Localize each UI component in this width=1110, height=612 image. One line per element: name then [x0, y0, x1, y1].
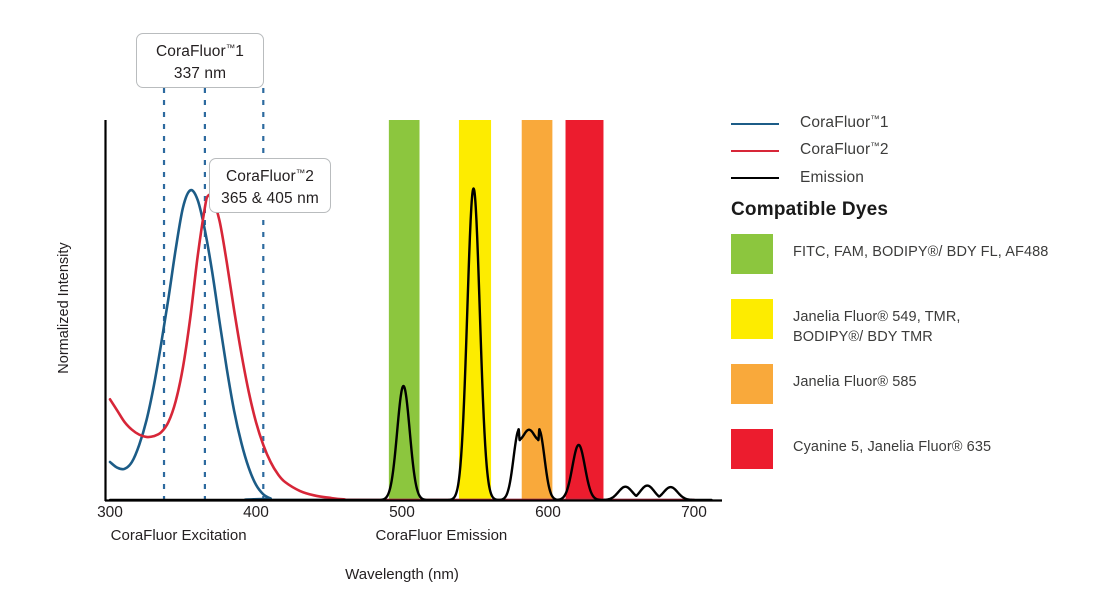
excitation-region-label: CoraFluor Excitation	[49, 527, 309, 544]
dye-row[interactable]: Cyanine 5, Janelia Fluor® 635	[731, 429, 1081, 479]
legend-item-3[interactable]: Emission	[731, 164, 1061, 191]
red-band	[566, 120, 604, 500]
legend-item-2[interactable]: CoraFluor™2	[731, 137, 1061, 164]
dye-color-swatch	[731, 299, 773, 339]
dye-color-swatch	[731, 234, 773, 274]
legend-line-swatch	[731, 177, 779, 179]
callout-corafluor2: CoraFluor™2 365 & 405 nm	[209, 158, 331, 213]
orange-band	[522, 120, 553, 500]
callout-corafluor1: CoraFluor™1 337 nm	[136, 33, 264, 88]
excitation-marker-lines	[164, 88, 263, 500]
callout-2-suffix: 2	[305, 168, 314, 185]
trademark-icon: ™	[870, 141, 880, 152]
series-legend: CoraFluor™1CoraFluor™2Emission	[731, 110, 1061, 191]
callout-2-value: 365 & 405 nm	[221, 190, 319, 207]
legend-line-swatch	[731, 150, 779, 152]
legend-item-label: Emission	[800, 169, 864, 187]
dye-row[interactable]: Janelia Fluor® 549, TMR, BODIPY®/ BDY TM…	[731, 299, 1081, 349]
compatible-dyes-heading: Compatible Dyes	[731, 199, 888, 221]
callout-1-label: CoraFluor	[156, 43, 226, 60]
legend-label-text: CoraFluor	[800, 142, 870, 159]
compatible-dyes-list: FITC, FAM, BODIPY®/ BDY FL, AF488Janelia…	[731, 234, 1081, 494]
legend-item-label: CoraFluor™1	[800, 114, 889, 132]
legend-label-text: CoraFluor	[800, 115, 870, 132]
dye-color-swatch	[731, 429, 773, 469]
dye-label: FITC, FAM, BODIPY®/ BDY FL, AF488	[793, 234, 1048, 263]
x-axis-title: Wavelength (nm)	[272, 566, 532, 583]
dye-row[interactable]: Janelia Fluor® 585	[731, 364, 1081, 414]
legend-line-swatch	[731, 123, 779, 125]
green-band	[389, 120, 420, 500]
emission-filter-bands	[389, 120, 604, 500]
x-tick-600: 600	[518, 504, 578, 522]
legend-label-suffix: 1	[880, 115, 889, 132]
legend-item-label: CoraFluor™2	[800, 141, 889, 159]
legend-label-suffix: 2	[880, 142, 889, 159]
trademark-icon: ™	[296, 168, 306, 179]
dye-label: Cyanine 5, Janelia Fluor® 635	[793, 429, 991, 458]
dye-label: Janelia Fluor® 585	[793, 364, 917, 393]
callout-1-value: 337 nm	[174, 65, 226, 82]
dye-row[interactable]: FITC, FAM, BODIPY®/ BDY FL, AF488	[731, 234, 1081, 284]
dye-label: Janelia Fluor® 549, TMR, BODIPY®/ BDY TM…	[793, 299, 961, 347]
x-tick-500: 500	[372, 504, 432, 522]
dye-color-swatch	[731, 364, 773, 404]
x-tick-700: 700	[664, 504, 724, 522]
spectra-figure: CoraFluor™1 337 nm CoraFluor™2 365 & 405…	[0, 0, 1110, 612]
emission-region-label: CoraFluor Emission	[311, 527, 571, 544]
trademark-icon: ™	[870, 114, 880, 125]
x-tick-300: 300	[80, 504, 140, 522]
callout-1-suffix: 1	[235, 43, 244, 60]
x-tick-400: 400	[226, 504, 286, 522]
trademark-icon: ™	[226, 43, 236, 54]
callout-2-label: CoraFluor	[226, 168, 296, 185]
legend-item-1[interactable]: CoraFluor™1	[731, 110, 1061, 137]
legend-label-text: Emission	[800, 169, 864, 186]
y-axis-label: Normalized Intensity	[56, 218, 72, 398]
